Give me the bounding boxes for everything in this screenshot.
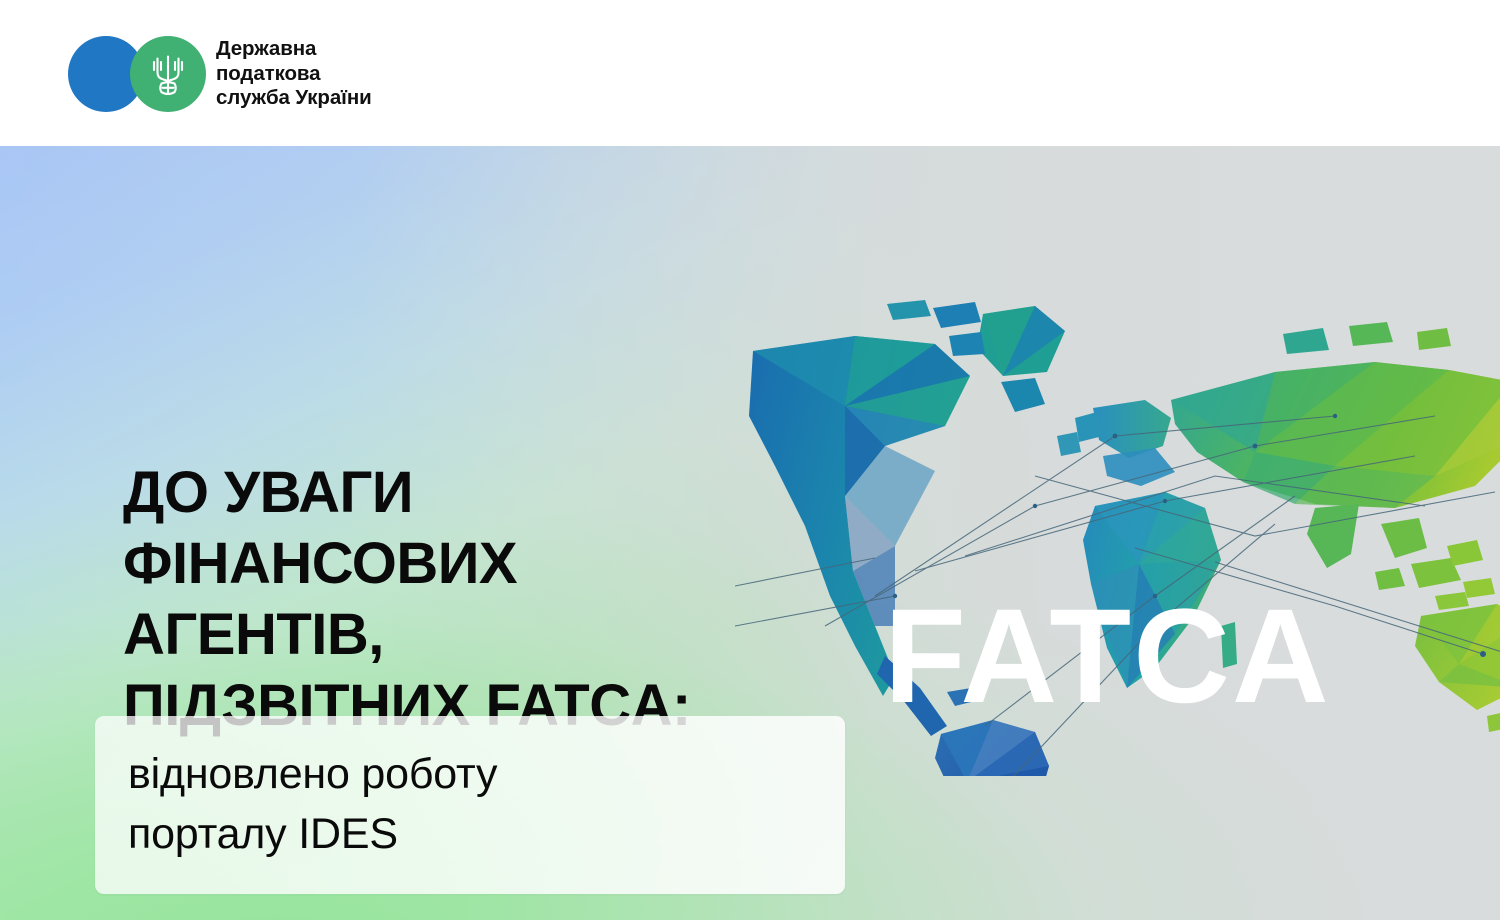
fatca-announcement-banner: Державна податкова служба України [0, 0, 1500, 920]
logo-marks [68, 36, 202, 112]
fatca-watermark-text: FATCA [884, 590, 1331, 724]
page-title: ДО УВАГИ ФІНАНСОВИХ АГЕНТІВ, ПІДЗВІТНИХ … [123, 457, 883, 741]
hero-section: FATCA ДО УВАГИ ФІНАНСОВИХ АГЕНТІВ, ПІДЗВ… [0, 146, 1500, 920]
agency-name: Державна податкова служба України [216, 37, 372, 111]
ukraine-trident-icon [130, 36, 206, 112]
agency-logo[interactable]: Державна податкова служба України [68, 36, 372, 112]
page-header: Державна податкова служба України [0, 0, 1500, 146]
subtitle-panel: відновлено роботу порталу IDES [95, 716, 845, 894]
subtitle-text: відновлено роботу порталу IDES [128, 744, 828, 864]
